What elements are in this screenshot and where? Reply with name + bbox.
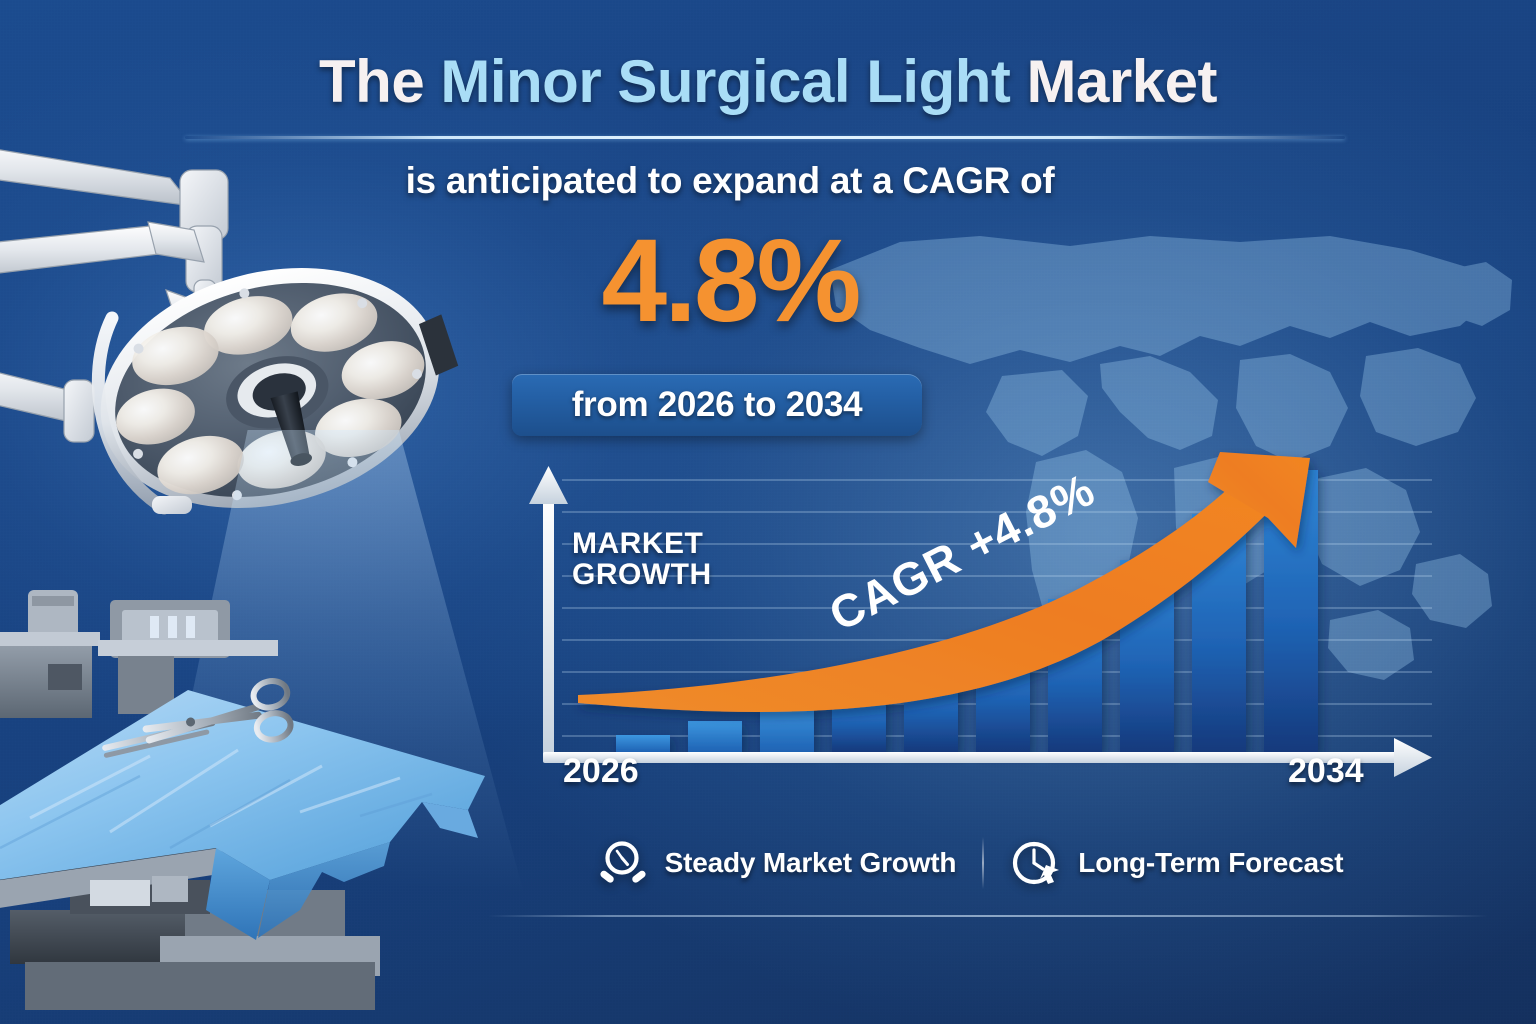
footer-item-steady-market-growth[interactable]: Steady Market Growth [597,837,957,889]
infographic-canvas: The Minor Surgical Light Market is antic… [0,0,1536,1024]
clock-icon [1010,837,1062,889]
footer-item-long-term-forecast[interactable]: Long-Term Forecast [1010,837,1343,889]
forecast-range-badge: from 2026 to 2034 [512,374,922,436]
operating-table-illustration [0,580,530,1024]
title-divider [185,136,1345,139]
footer-label-long-term-forecast: Long-Term Forecast [1078,847,1343,879]
chart-xlabel-start: 2026 [563,752,639,791]
page-title: The Minor Surgical Light Market [0,52,1536,112]
axis-label-line2: GROWTH [572,559,712,590]
title-part-1: The [319,48,440,115]
cagr-value: 4.8% [330,222,1130,340]
footer-label-steady-market-growth: Steady Market Growth [665,847,957,879]
subheadline: is anticipated to expand at a CAGR of [330,160,1130,202]
title-part-highlight: Minor Surgical Light [440,48,1010,115]
chart-xlabel-end: 2034 [1288,752,1364,791]
axis-label-line1: MARKET [572,528,712,559]
magnifier-gauge-icon [597,837,649,889]
footer-divider [982,837,984,889]
chart-axis-label: MARKET GROWTH [572,528,712,590]
footer-divider-rule [488,915,1488,917]
footer-highlights: Steady Market Growth Long-Term Forecast [520,828,1420,898]
market-growth-chart: CAGR +4.8% [520,460,1450,790]
forecast-range-label: from 2026 to 2034 [572,385,863,425]
title-part-2: Market [1010,48,1217,115]
